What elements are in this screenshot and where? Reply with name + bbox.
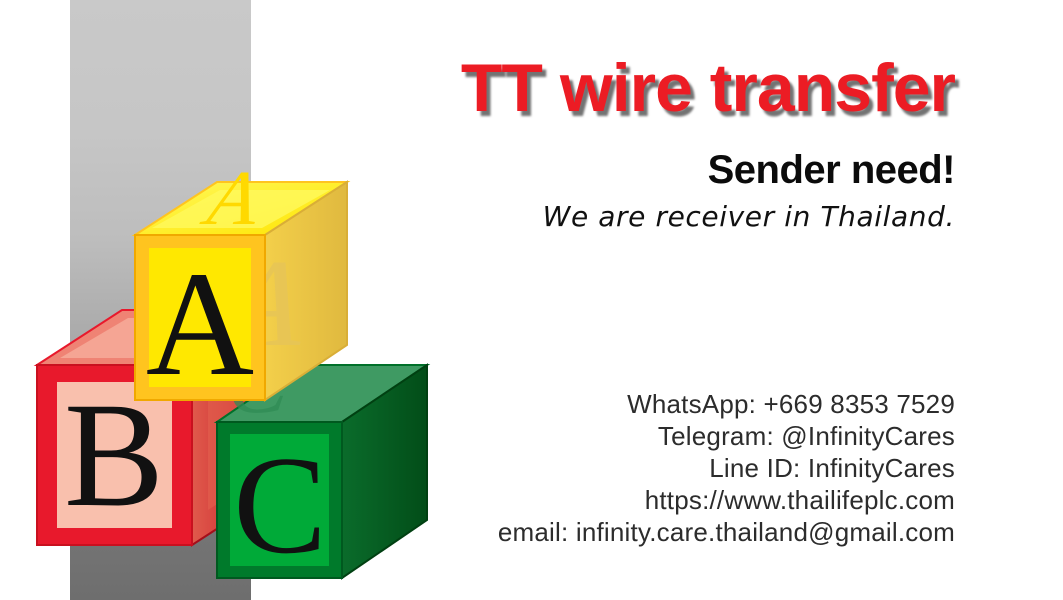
contact-line-email[interactable]: email: infinity.care.thailand@gmail.com [260, 516, 955, 548]
contact-line-telegram: Telegram: @InfinityCares [260, 420, 955, 452]
page-subtitle: Sender need! [260, 150, 955, 190]
page-tagline: We are receiver in Thailand. [260, 202, 955, 233]
contact-line-whatsapp: WhatsApp: +669 8353 7529 [260, 388, 955, 420]
poster-canvas: B C C A [0, 0, 1063, 600]
text-column: TT wire transfer Sender need! We are rec… [260, 0, 955, 600]
contact-line-website[interactable]: https://www.thailifeplc.com [260, 484, 955, 516]
contact-line-line-id: Line ID: InfinityCares [260, 452, 955, 484]
contact-block: WhatsApp: +669 8353 7529 Telegram: @Infi… [260, 388, 955, 548]
page-title: TT wire transfer [260, 54, 955, 122]
svg-text:A: A [146, 241, 254, 407]
